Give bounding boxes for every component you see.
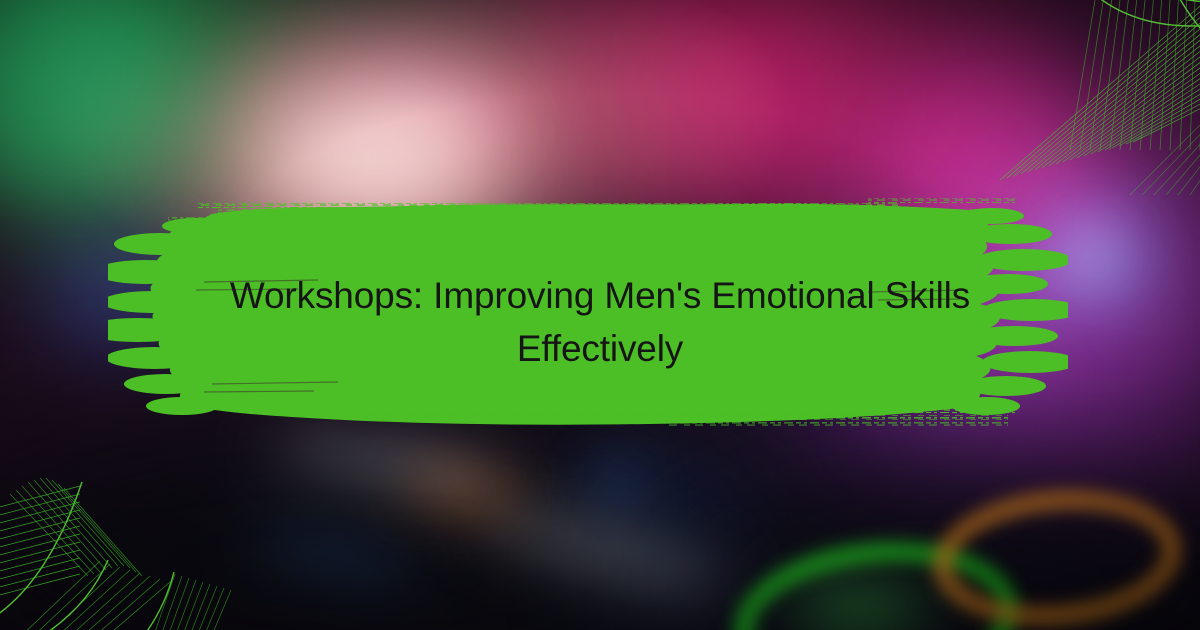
page-title: Workshops: Improving Men's Emotional Ski… bbox=[150, 270, 1050, 375]
social-card: Workshops: Improving Men's Emotional Ski… bbox=[0, 0, 1200, 630]
